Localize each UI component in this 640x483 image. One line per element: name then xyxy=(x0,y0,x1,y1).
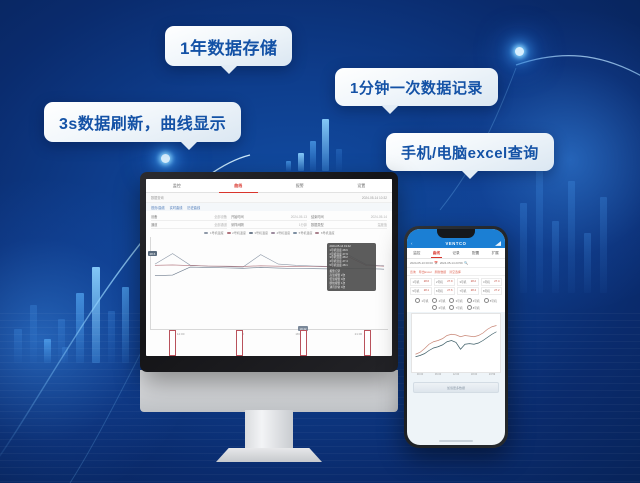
cell-value: 27.2 xyxy=(494,289,499,292)
load-more-button[interactable]: 加载更多数据 xyxy=(413,382,499,393)
legend-item[interactable]: 6号机温度 xyxy=(315,231,334,235)
background-bar xyxy=(44,339,51,363)
monitor-base xyxy=(216,448,322,462)
x-tick: 00:00 xyxy=(417,373,423,376)
desktop-monitor: 监控 曲线 报警 设置 数据查询 2024-05-14 10:32 首页/曲线 … xyxy=(140,172,398,372)
phone-value-grid: 1号机28.6 2号机27.9 3号机28.2 4号机27.4 5号机28.1 … xyxy=(407,276,505,296)
cell-key: 1号机 xyxy=(413,280,420,284)
subbar-left-label: 数据查询 xyxy=(151,195,164,200)
background-bar xyxy=(520,203,527,293)
filter-value: 温度值 xyxy=(377,222,387,227)
column-bar xyxy=(364,330,371,356)
callout-query[interactable]: 手机/电脑excel查询 xyxy=(386,133,554,171)
y-axis-value-tag: 28.6 xyxy=(148,251,157,256)
legend-dot xyxy=(449,298,454,303)
background-bar xyxy=(62,347,68,363)
tab-monitor[interactable]: 监控 xyxy=(146,179,208,192)
mobile-phone: ‹ VENTCO 监控 曲线 记录 配置 扩展 2024-05-13 00:00… xyxy=(404,226,508,448)
value-cell[interactable]: 4号机27.4 xyxy=(481,278,503,286)
home-indicator xyxy=(439,440,473,442)
chart-column-overlay xyxy=(150,330,388,356)
x-tick: 23:59 xyxy=(489,373,495,376)
legend-label: 2号机温度 xyxy=(232,231,246,235)
legend-dot xyxy=(432,305,437,310)
cell-key: 6号机 xyxy=(436,289,443,293)
x-tick: 06:00 xyxy=(435,373,441,376)
legend-label: 1号机温度 xyxy=(210,231,224,235)
filter-value: 2024-05-13 xyxy=(291,215,307,219)
filter-value: 全部设备 xyxy=(214,214,227,219)
legend-swatch xyxy=(315,232,319,233)
chip-clear[interactable]: 清空选择 xyxy=(449,270,461,274)
tooltip-time: 2024-05-14 19:42 xyxy=(330,245,374,248)
cell-value: 27.9 xyxy=(447,280,452,283)
filter-label: 结束时间 xyxy=(311,214,324,219)
calendar-icon[interactable]: 📅 xyxy=(434,261,438,265)
background-bar xyxy=(298,153,304,171)
breadcrumb-item-1[interactable]: 实时曲线 xyxy=(170,205,183,210)
cell-key: 8号机 xyxy=(483,289,490,293)
background-bar xyxy=(122,287,129,363)
legend-label: 3号机 xyxy=(456,299,463,303)
filter-value: 全部通道 xyxy=(214,222,227,227)
legend-label: 7号机 xyxy=(456,306,463,310)
tab-alarm[interactable]: 报警 xyxy=(269,179,331,192)
legend-dot xyxy=(484,298,489,303)
legend-swatch xyxy=(227,232,231,233)
phone-app-title: VENTCO xyxy=(445,241,466,246)
background-bar xyxy=(108,311,115,363)
subbar-timestamp: 2024-05-14 10:32 xyxy=(362,196,387,200)
value-cell[interactable]: 3号机28.2 xyxy=(457,278,479,286)
legend-item[interactable]: 4号机 xyxy=(467,298,480,303)
filter-value: 2024-05-14 xyxy=(371,215,387,219)
desktop-filter-form: 设备 全部设备 开始时间 2024-05-13 结束时间 2024-05-14 … xyxy=(146,211,392,230)
background-bar xyxy=(600,197,607,293)
legend-swatch xyxy=(204,232,208,233)
phone-notch xyxy=(437,229,475,238)
monitor-screen: 监控 曲线 报警 设置 数据查询 2024-05-14 10:32 首页/曲线 … xyxy=(146,179,392,356)
cell-key: 2号机 xyxy=(436,280,443,284)
background-bar xyxy=(14,329,22,363)
breadcrumb-item-0[interactable]: 首页/曲线 xyxy=(151,205,165,210)
filter-field-end[interactable]: 结束时间 2024-05-14 xyxy=(311,213,387,221)
desktop-chart-legend: 1号机温度 2号机温度 3号机温度 4号机温度 5号机温度 6号机温度 xyxy=(146,230,392,237)
value-cell[interactable]: 7号机28.4 xyxy=(457,287,479,295)
filter-field-start[interactable]: 开始时间 2024-05-13 xyxy=(231,213,307,221)
filter-field-channel[interactable]: 通道 全部通道 xyxy=(151,221,227,229)
value-cell[interactable]: 5号机28.1 xyxy=(410,287,432,295)
chip-refresh[interactable]: 刷新数据 xyxy=(435,270,447,274)
tooltip-row: 1号机温度 28.6 xyxy=(330,249,374,252)
date-from-field[interactable]: 2024-05-13 00:00 xyxy=(410,261,433,265)
phone-tab-curve[interactable]: 曲线 xyxy=(427,248,447,258)
legend-item[interactable]: 7号机 xyxy=(449,305,462,310)
callout-storage-label: 1年数据存储 xyxy=(180,34,277,59)
breadcrumb: 首页/曲线 实时曲线 历史曲线 xyxy=(146,203,392,211)
cell-value: 28.2 xyxy=(471,280,476,283)
filter-label: 开始时间 xyxy=(231,214,244,219)
legend-item[interactable]: 1号机 xyxy=(415,298,428,303)
legend-item[interactable]: 2号机温度 xyxy=(227,231,246,235)
callout-query-label: 手机/电脑excel查询 xyxy=(401,142,539,163)
chart-tooltip: 2024-05-14 19:42 1号机温度 28.6 2号机温度 27.9 3… xyxy=(327,243,376,291)
cell-key: 7号机 xyxy=(460,289,467,293)
filter-label: 通道 xyxy=(151,222,157,227)
back-icon[interactable]: ‹ xyxy=(411,241,413,246)
monitor-neck xyxy=(140,370,398,412)
phone-tab-more[interactable]: 扩展 xyxy=(485,248,505,258)
chip-export[interactable]: 导出Excel xyxy=(419,270,432,274)
legend-label: 8号机 xyxy=(473,306,480,310)
legend-item[interactable]: 2号机 xyxy=(432,298,445,303)
legend-label: 2号机 xyxy=(439,299,446,303)
phone-chart-svg xyxy=(412,314,500,372)
value-cell[interactable]: 2号机27.9 xyxy=(434,278,456,286)
legend-item[interactable]: 5号机 xyxy=(484,298,497,303)
legend-dot xyxy=(467,305,472,310)
x-tick: 12:00 xyxy=(453,373,459,376)
load-more-label: 加载更多数据 xyxy=(447,386,465,390)
legend-swatch xyxy=(271,232,275,233)
tooltip-row: 4号机温度 27.4 xyxy=(330,260,374,263)
background-bar xyxy=(584,233,591,293)
background-bar xyxy=(568,181,575,293)
background-bar xyxy=(310,141,316,171)
date-to-field[interactable]: 2024-05-14 23:59 xyxy=(440,261,463,265)
background-bar xyxy=(552,221,559,293)
monitor-stem xyxy=(245,410,293,450)
tooltip-footer-row: 低温报警 0次 xyxy=(330,278,374,281)
callout-refresh-label: 3s数据刷新，曲线显示 xyxy=(59,110,226,134)
callout-storage[interactable]: 1年数据存储 xyxy=(165,26,292,66)
column-bar xyxy=(169,330,176,356)
legend-dot xyxy=(449,305,454,310)
cell-value: 27.6 xyxy=(447,289,452,292)
background-bar xyxy=(30,305,37,363)
signal-icon xyxy=(495,241,501,246)
legend-label: 6号机温度 xyxy=(321,231,335,235)
legend-item[interactable]: 6号机 xyxy=(432,305,445,310)
legend-swatch xyxy=(293,232,297,233)
value-cell[interactable]: 1号机28.6 xyxy=(410,278,432,286)
filter-value: 1分钟 xyxy=(299,222,307,227)
column-bar xyxy=(236,330,243,356)
chart-series-line xyxy=(416,332,497,357)
legend-dot xyxy=(415,298,420,303)
phone-tab-config[interactable]: 配置 xyxy=(466,248,486,258)
background-bar xyxy=(58,319,65,363)
phone-chart-legend: 1号机 2号机 3号机 4号机 5号机 6号机 7号机 8号机 xyxy=(407,296,505,312)
filter-field-device[interactable]: 设备 全部设备 xyxy=(151,213,227,221)
legend-label: 3号机温度 xyxy=(254,231,268,235)
value-cell[interactable]: 8号机27.2 xyxy=(481,287,503,295)
phone-body: ‹ VENTCO 监控 曲线 记录 配置 扩展 2024-05-13 00:00… xyxy=(404,226,508,448)
phone-tabbar: 监控 曲线 记录 配置 扩展 xyxy=(407,248,505,259)
cell-value: 28.6 xyxy=(424,280,429,283)
legend-label: 5号机温度 xyxy=(299,231,313,235)
glow-node-right xyxy=(515,47,524,56)
tooltip-row: 5号机温度 28.1 xyxy=(330,264,374,267)
legend-item[interactable]: 5号机温度 xyxy=(293,231,312,235)
background-bar xyxy=(286,161,291,171)
phone-line-chart[interactable] xyxy=(411,313,501,373)
background-bar xyxy=(536,163,543,293)
legend-label: 1号机 xyxy=(422,299,429,303)
x-tick: 18:00 xyxy=(471,373,477,376)
filter-label: 采样间隔 xyxy=(231,222,244,227)
cell-value: 27.4 xyxy=(494,280,499,283)
search-icon[interactable]: 🔍 xyxy=(464,261,468,265)
filter-field-interval[interactable]: 采样间隔 1分钟 xyxy=(231,221,307,229)
legend-item[interactable]: 3号机 xyxy=(449,298,462,303)
desktop-line-chart[interactable]: 28.6 2024-05-14 19:42 1号机温度 28.6 2号机温度 2… xyxy=(150,237,388,330)
callout-record-label: 1分钟一次数据记录 xyxy=(350,77,483,98)
cell-value: 28.1 xyxy=(424,289,429,292)
legend-swatch xyxy=(249,232,253,233)
phone-date-range: 2024-05-13 00:00 📅 2024-05-14 23:59 🔍 xyxy=(407,259,505,268)
desktop-subbar: 数据查询 2024-05-14 10:32 xyxy=(146,193,392,203)
legend-item[interactable]: 1号机温度 xyxy=(204,231,223,235)
glow-node-left xyxy=(161,154,170,163)
tooltip-footer-row: 通讯异常 0次 xyxy=(330,286,374,289)
monitor-bezel: 监控 曲线 报警 设置 数据查询 2024-05-14 10:32 首页/曲线 … xyxy=(140,172,398,372)
filter-label: 设备 xyxy=(151,214,157,219)
callout-record[interactable]: 1分钟一次数据记录 xyxy=(335,68,498,106)
tooltip-footer-row: 高温报警 2次 xyxy=(330,274,374,277)
promo-banner: 1年数据存储 1分钟一次数据记录 3s数据刷新，曲线显示 手机/电脑excel查… xyxy=(0,0,640,483)
phone-screen: ‹ VENTCO 监控 曲线 记录 配置 扩展 2024-05-13 00:00… xyxy=(407,229,505,445)
tab-settings[interactable]: 设置 xyxy=(331,179,393,192)
background-bar xyxy=(76,293,84,363)
column-bar xyxy=(300,330,307,356)
legend-item[interactable]: 8号机 xyxy=(467,305,480,310)
phone-tab-record[interactable]: 记录 xyxy=(446,248,466,258)
chip-query[interactable]: 查询 xyxy=(410,270,416,274)
tab-curve[interactable]: 曲线 xyxy=(208,179,270,192)
legend-label: 5号机 xyxy=(490,299,497,303)
filter-field-datatype[interactable]: 数据类型 温度值 xyxy=(311,221,387,229)
cell-key: 5号机 xyxy=(413,289,420,293)
legend-item[interactable]: 4号机温度 xyxy=(271,231,290,235)
phone-filter-chips: 查询 导出Excel 刷新数据 清空选择 xyxy=(407,268,505,276)
value-cell[interactable]: 6号机27.6 xyxy=(434,287,456,295)
legend-dot xyxy=(432,298,437,303)
callout-refresh[interactable]: 3s数据刷新，曲线显示 xyxy=(44,102,241,142)
cell-key: 3号机 xyxy=(460,280,467,284)
tooltip-footer-row: 断线报警 1次 xyxy=(330,282,374,285)
phone-tab-monitor[interactable]: 监控 xyxy=(407,248,427,258)
legend-dot xyxy=(467,298,472,303)
legend-label: 4号机温度 xyxy=(277,231,291,235)
cell-key: 4号机 xyxy=(483,280,490,284)
background-bar xyxy=(92,267,100,363)
breadcrumb-item-2[interactable]: 历史曲线 xyxy=(187,205,200,210)
legend-label: 4号机 xyxy=(473,299,480,303)
filter-label: 数据类型 xyxy=(311,222,324,227)
cell-value: 28.4 xyxy=(471,289,476,292)
phone-x-axis-labels: 00:00 06:00 12:00 18:00 23:59 xyxy=(407,373,505,376)
desktop-tabbar: 监控 曲线 报警 设置 xyxy=(146,179,392,193)
background-bar xyxy=(336,149,342,171)
legend-item[interactable]: 3号机温度 xyxy=(249,231,268,235)
background-bar xyxy=(322,119,329,171)
legend-label: 6号机 xyxy=(439,306,446,310)
